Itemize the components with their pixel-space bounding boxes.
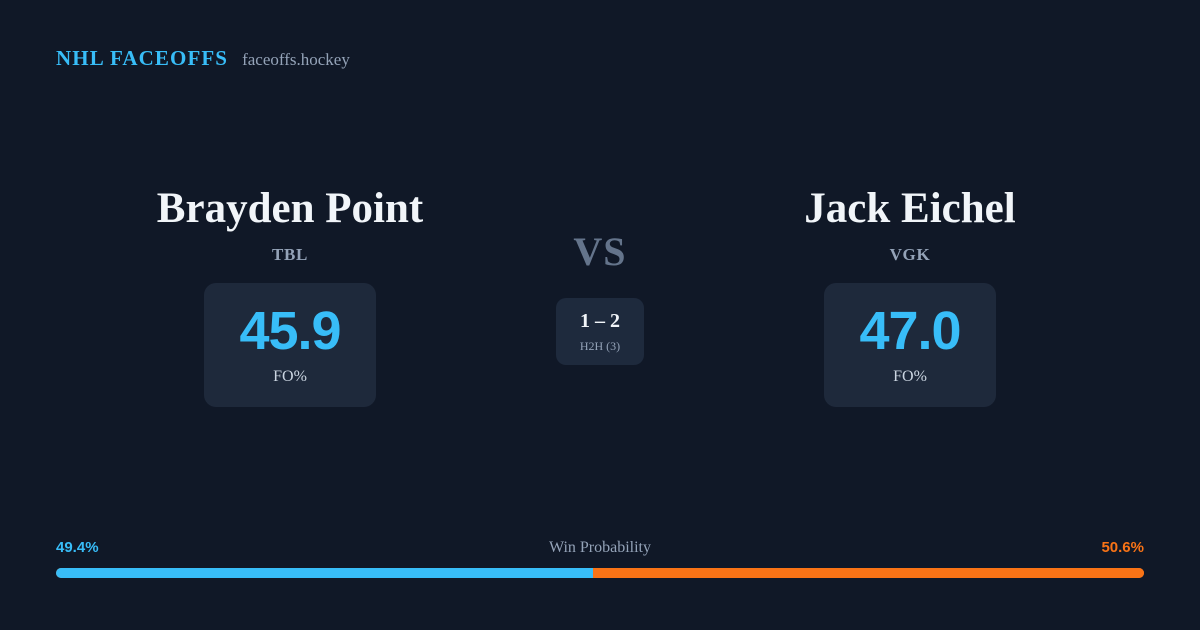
win-probability-left-value: 49.4%	[56, 539, 99, 556]
win-probability-bar-left	[56, 568, 593, 578]
win-probability-labels: 49.4% Win Probability 50.6%	[56, 539, 1144, 557]
player-name-away: Jack Eichel	[804, 186, 1015, 231]
player-card-away[interactable]: Jack Eichel VGK 47.0 FO%	[700, 186, 1120, 407]
win-probability-right-value: 50.6%	[1101, 539, 1144, 556]
site-header: NHL FACEOFFS faceoffs.hockey	[56, 46, 350, 71]
stat-value-away: 47.0	[859, 304, 960, 358]
versus-label: VS	[573, 232, 626, 272]
win-probability-title: Win Probability	[549, 539, 651, 557]
stat-card-away: 47.0 FO%	[824, 283, 996, 407]
head-to-head-badge[interactable]: 1 – 2 H2H (3)	[556, 298, 644, 365]
stat-label-away: FO%	[893, 368, 927, 386]
player-team-away: VGK	[890, 245, 931, 265]
stat-value-home: 45.9	[239, 304, 340, 358]
brand-domain: faceoffs.hockey	[242, 50, 350, 70]
head-to-head-caption: H2H (3)	[580, 339, 620, 354]
win-probability-bar-right	[593, 568, 1144, 578]
brand-title[interactable]: NHL FACEOFFS	[56, 46, 228, 71]
player-card-home[interactable]: Brayden Point TBL 45.9 FO%	[80, 186, 500, 407]
player-team-home: TBL	[272, 245, 308, 265]
win-probability-section: 49.4% Win Probability 50.6%	[56, 539, 1144, 578]
stat-label-home: FO%	[273, 368, 307, 386]
matchup-section: Brayden Point TBL 45.9 FO% VS 1 – 2 H2H …	[0, 186, 1200, 407]
versus-section: VS 1 – 2 H2H (3)	[500, 186, 700, 365]
player-name-home: Brayden Point	[157, 186, 423, 231]
head-to-head-record: 1 – 2	[580, 310, 620, 333]
win-probability-bar	[56, 568, 1144, 578]
stat-card-home: 45.9 FO%	[204, 283, 376, 407]
